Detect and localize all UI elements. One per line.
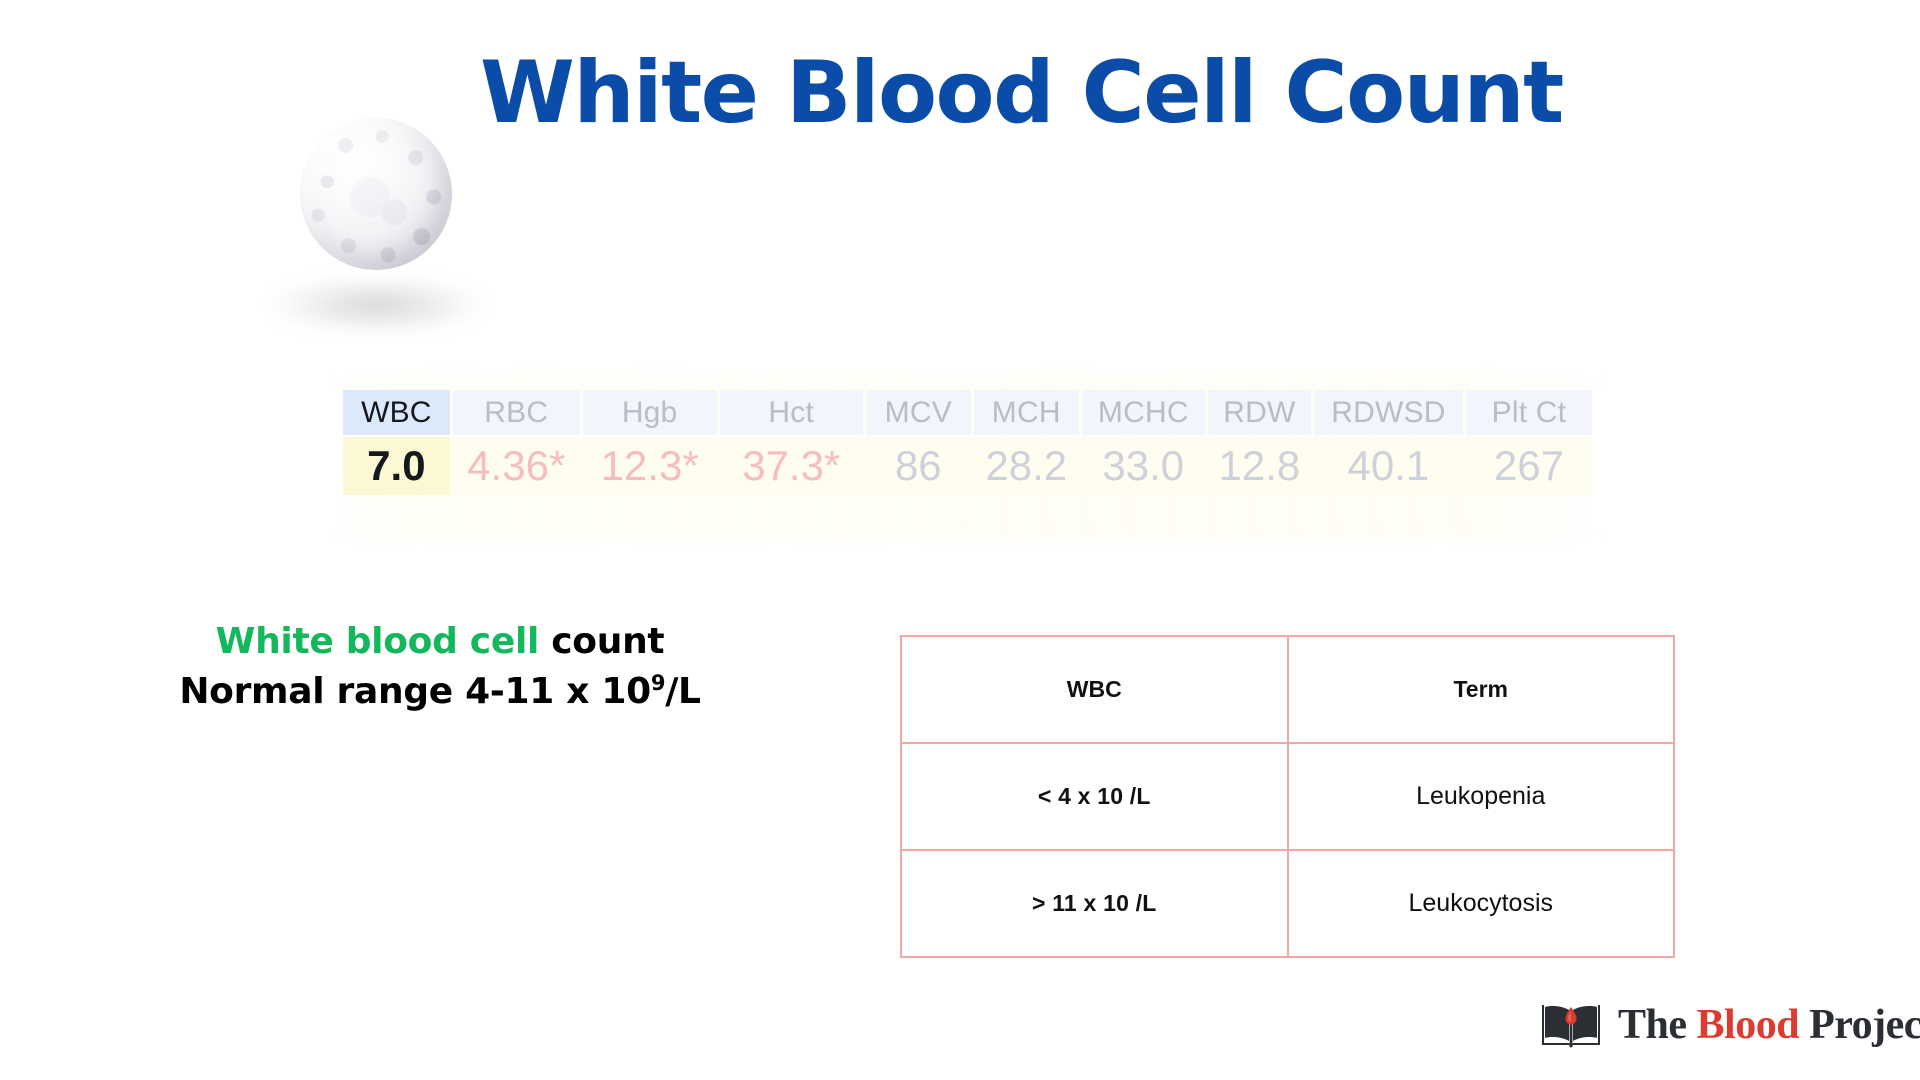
caption-units: /L <box>665 671 701 712</box>
cbc-header-rbc: RBC <box>453 390 580 435</box>
brand-the: The <box>1618 1002 1697 1048</box>
cbc-header-rdw: RDW <box>1208 390 1311 435</box>
brand-logo: The Blood Project <box>1540 995 1920 1055</box>
cbc-value-rdwsd: 40.1 <box>1314 437 1463 495</box>
cbc-header-mcv: MCV <box>866 390 971 435</box>
caption-line-1: White blood cell count <box>130 617 750 667</box>
brand-project: Project <box>1799 1002 1920 1048</box>
cbc-header-rdwsd: RDWSD <box>1314 390 1463 435</box>
terminology-header-term: Term <box>1288 636 1675 743</box>
caption-count-text: count <box>539 621 664 662</box>
cbc-value-wbc: 7.0 <box>343 437 450 495</box>
terminology-term-leukopenia: Leukopenia <box>1288 743 1675 850</box>
cbc-value-hct: 37.3* <box>720 437 863 495</box>
caption-normal-range-text: Normal range 4-11 x 10 <box>179 671 651 712</box>
wbc-terminology-table: WBC Term < 4 x 10 /L Leukopenia > 11 x 1… <box>900 635 1675 958</box>
cbc-header-plt: Plt Ct <box>1466 390 1592 435</box>
cell-shadow <box>272 276 482 334</box>
cbc-header-hgb: Hgb <box>583 390 717 435</box>
cbc-value-plt: 267 <box>1466 437 1592 495</box>
table-row: > 11 x 10 /L Leukocytosis <box>901 850 1674 957</box>
cbc-value-row: 7.0 4.36* 12.3* 37.3* 86 28.2 33.0 12.8 … <box>343 437 1592 495</box>
white-blood-cell-image <box>272 108 507 348</box>
terminology-wbc-leukocytosis: > 11 x 10 /L <box>901 850 1288 957</box>
cbc-value-rbc: 4.36* <box>453 437 580 495</box>
caption-exponent: 9 <box>651 671 665 695</box>
cell-membrane-texture-icon <box>300 118 452 270</box>
caption-line-2: Normal range 4-11 x 109/L <box>130 667 750 717</box>
cbc-header-mch: MCH <box>974 390 1079 435</box>
cbc-value-rdw: 12.8 <box>1208 437 1311 495</box>
brand-logo-text: The Blood Project <box>1618 1001 1920 1049</box>
cbc-header-row: WBC RBC Hgb Hct MCV MCH MCHC RDW RDWSD P… <box>343 390 1592 435</box>
cbc-header-mchc: MCHC <box>1082 390 1205 435</box>
cbc-value-mchc: 33.0 <box>1082 437 1205 495</box>
brand-blood: Blood <box>1697 1002 1800 1048</box>
cbc-value-mcv: 86 <box>866 437 971 495</box>
terminology-header-row: WBC Term <box>901 636 1674 743</box>
open-book-icon <box>1540 999 1602 1051</box>
table-row: < 4 x 10 /L Leukopenia <box>901 743 1674 850</box>
cbc-lab-panel: WBC RBC Hgb Hct MCV MCH MCHC RDW RDWSD P… <box>340 388 1595 523</box>
cbc-header-hct: Hct <box>720 390 863 435</box>
wbc-caption: White blood cell count Normal range 4-11… <box>130 617 750 716</box>
cbc-results-table: WBC RBC Hgb Hct MCV MCH MCHC RDW RDWSD P… <box>340 388 1595 497</box>
cbc-value-mch: 28.2 <box>974 437 1079 495</box>
caption-green-text: White blood cell <box>216 621 539 662</box>
terminology-header-wbc: WBC <box>901 636 1288 743</box>
terminology-term-leukocytosis: Leukocytosis <box>1288 850 1675 957</box>
page-title: White Blood Cell Count <box>480 50 1600 136</box>
cbc-header-wbc: WBC <box>343 390 450 435</box>
terminology-wbc-leukopenia: < 4 x 10 /L <box>901 743 1288 850</box>
cbc-value-hgb: 12.3* <box>583 437 717 495</box>
